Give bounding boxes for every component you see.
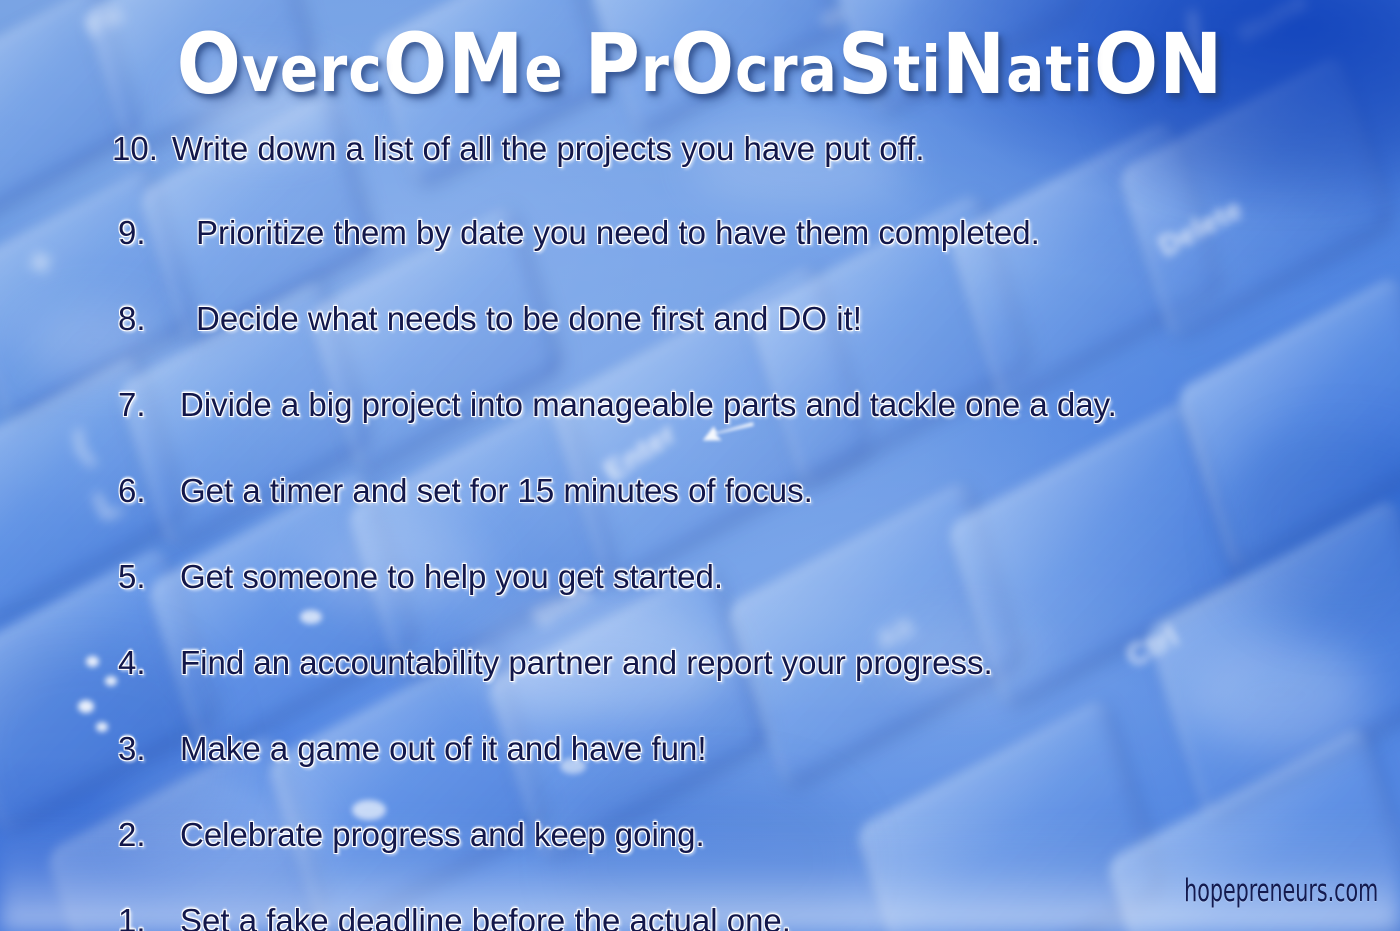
- list-item: 3.Make a game out of it and have fun!: [0, 732, 1400, 818]
- tip-number: 1.: [118, 904, 152, 931]
- title-glyph-19: N: [1159, 15, 1223, 113]
- title-glyph-15: a: [1006, 33, 1045, 106]
- tip-number: 2.: [118, 818, 152, 853]
- tip-text: Prioritize them by date you need to have…: [196, 216, 1040, 251]
- title-glyph-10: a: [799, 33, 838, 106]
- list-item: 4.Find an accountability partner and rep…: [0, 646, 1400, 732]
- title-glyph-18: O: [1094, 15, 1159, 113]
- title-glyph-14: N: [942, 15, 1006, 113]
- list-item: 8.Decide what needs to be done first and…: [0, 302, 1400, 388]
- tips-list: 10.Write down a list of all the projects…: [0, 132, 1400, 931]
- list-item: 6.Get a timer and set for 15 minutes of …: [0, 474, 1400, 560]
- title-glyph-6: P: [584, 15, 640, 113]
- tip-number: 4.: [118, 646, 152, 681]
- tip-text: Write down a list of all the projects yo…: [172, 132, 925, 167]
- title-glyph-5: [564, 33, 585, 106]
- tip-number: 6.: [118, 474, 152, 509]
- title-glyph-4: e: [524, 33, 563, 106]
- tip-number: 8.: [118, 302, 152, 337]
- title-glyph-16: t: [1045, 33, 1073, 106]
- title-glyph-2: O: [383, 15, 448, 113]
- tip-number: 10.: [112, 132, 158, 167]
- tip-number: 3.: [118, 732, 152, 767]
- tip-text: Decide what needs to be done first and D…: [196, 302, 862, 337]
- poster-content: OvercOMe PrOcraStiNatiON 10.Write down a…: [0, 0, 1400, 931]
- watermark-url: hopepreneurs.com: [1184, 873, 1378, 909]
- tip-text: Get someone to help you get started.: [180, 560, 723, 595]
- list-item: 7.Divide a big project into manageable p…: [0, 388, 1400, 474]
- title-glyph-3: M: [448, 15, 524, 113]
- title-glyph-11: S: [838, 15, 893, 113]
- tip-number: 9.: [118, 216, 152, 251]
- tip-text: Make a game out of it and have fun!: [180, 732, 707, 767]
- title-glyph-9: cr: [735, 33, 799, 106]
- title-glyph-8: O: [670, 15, 735, 113]
- tip-text: Get a timer and set for 15 minutes of fo…: [180, 474, 813, 509]
- tip-number: 7.: [118, 388, 152, 423]
- poster-image: Home Delete Enter Shift Ctrl + { L Fn Al…: [0, 0, 1400, 931]
- list-item: 5.Get someone to help you get started.: [0, 560, 1400, 646]
- page-title: OvercOMe PrOcraStiNatiON: [0, 22, 1400, 107]
- list-item: 10.Write down a list of all the projects…: [0, 132, 1400, 216]
- tip-number: 5.: [118, 560, 152, 595]
- tip-text: Divide a big project into manageable par…: [180, 388, 1117, 423]
- title-glyph-13: i: [921, 33, 941, 106]
- title-glyph-0: O: [177, 15, 242, 113]
- list-item: 9.Prioritize them by date you need to ha…: [0, 216, 1400, 302]
- tip-text: Find an accountability partner and repor…: [180, 646, 993, 681]
- title-glyph-12: t: [893, 33, 921, 106]
- title-glyph-1: verc: [242, 33, 383, 106]
- tip-text: Celebrate progress and keep going.: [180, 818, 705, 853]
- title-glyph-7: r: [641, 33, 670, 106]
- tip-text: Set a fake deadline before the actual on…: [180, 904, 791, 931]
- title-glyph-17: i: [1073, 33, 1093, 106]
